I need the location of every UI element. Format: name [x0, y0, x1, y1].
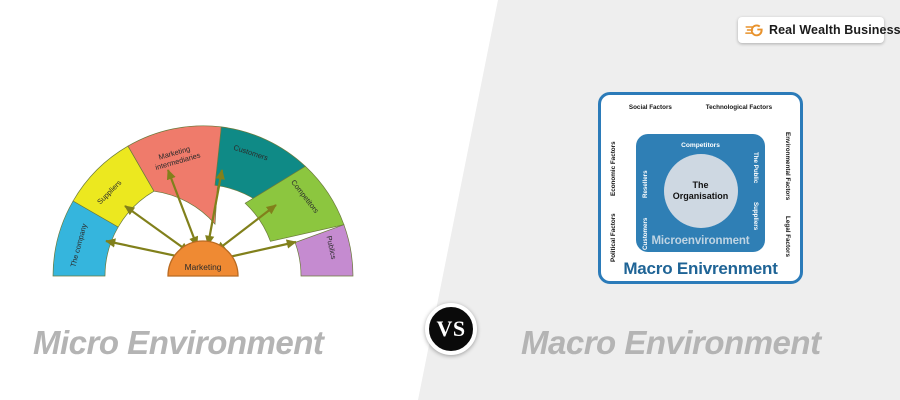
page-title-right: Macro Environment — [521, 324, 821, 362]
brand-logo-text: Real Wealth Business — [769, 23, 900, 37]
macro-top-factor-labels: Social Factors Technological Factors — [612, 104, 789, 111]
macro-factor-social: Social Factors — [629, 104, 672, 111]
micro-factor-competitors: Competitors — [636, 142, 765, 149]
organisation-circle[interactable]: TheOrganisation — [664, 154, 738, 228]
vs-badge: VS — [425, 303, 477, 355]
macro-environment-title: Macro Enivrenment — [598, 259, 803, 279]
micro-arrow-2 — [125, 206, 189, 252]
micro-arc-svg: The company Suppliers Marketing intermed… — [48, 98, 358, 283]
microenvironment-box[interactable]: Competitors Resellers Customers The Publ… — [636, 134, 765, 252]
micro-factor-resellers: Resellers — [642, 154, 649, 198]
page-title-left: Micro Environment — [33, 324, 323, 362]
macro-factor-economic: Economic Factors — [610, 134, 617, 196]
micro-center-label: Marketing — [185, 262, 222, 272]
macro-factor-political: Political Factors — [610, 204, 617, 262]
macro-factor-legal: Legal Factors — [784, 216, 791, 264]
micro-environment-diagram: The company Suppliers Marketing intermed… — [48, 98, 358, 283]
comparison-infographic: Real Wealth Business — [0, 0, 900, 400]
organisation-label: TheOrganisation — [673, 180, 729, 201]
microenvironment-title: Microenvironment — [636, 235, 765, 247]
macro-factor-technological: Technological Factors — [706, 104, 772, 111]
macro-factor-environmental: Environmental Factors — [784, 132, 791, 210]
flame-swoosh-logo-icon — [745, 23, 764, 38]
brand-logo[interactable]: Real Wealth Business — [738, 17, 884, 43]
macro-environment-diagram: Social Factors Technological Factors Eco… — [598, 92, 803, 284]
micro-factor-the-public: The Public — [752, 152, 759, 196]
vs-badge-label: VS — [436, 316, 465, 342]
